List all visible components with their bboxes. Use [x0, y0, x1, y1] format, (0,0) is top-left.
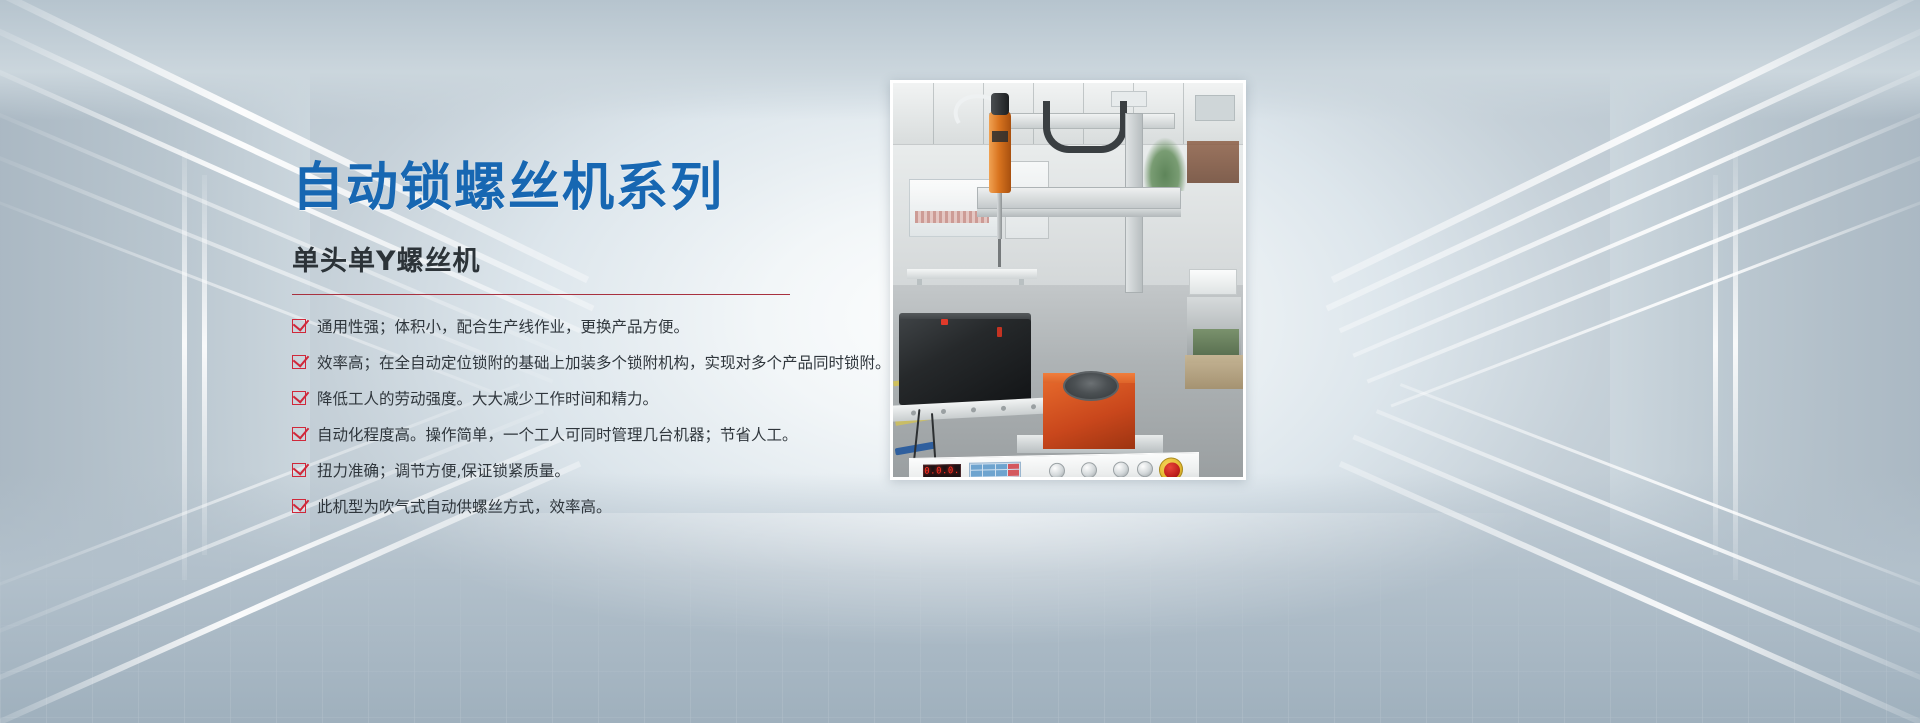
check-square-icon [292, 319, 306, 333]
banner-content: 自动锁螺丝机系列 单头单Y螺丝机 通用性强；体积小，配合生产线作业，更换产品方便… [0, 0, 1920, 723]
wall-board [1195, 95, 1235, 121]
background-papers [1189, 269, 1237, 295]
control-keypad [969, 462, 1021, 477]
feature-list: 通用性强；体积小，配合生产线作业，更换产品方便。 效率高；在全自动定位锁附的基础… [292, 317, 892, 518]
page-subtitle: 单头单Y螺丝机 [292, 239, 892, 278]
panel-button-reset [1049, 463, 1065, 477]
machine-rail-lower [977, 209, 1181, 217]
banner-copy-block: 自动锁螺丝机系列 单头单Y螺丝机 通用性强；体积小，配合生产线作业，更换产品方便… [292, 160, 892, 533]
panel-button-test [1113, 461, 1129, 477]
background-item [1193, 329, 1239, 355]
module-indicator [997, 327, 1002, 337]
screwdriver-shaft [997, 193, 1002, 239]
screwdriver-label [992, 131, 1008, 142]
panel-button-auto [1137, 461, 1153, 477]
background-crate [1187, 141, 1239, 183]
feature-text: 效率高；在全自动定位锁附的基础上加装多个锁附机构，实现对多个产品同时锁附。 [317, 353, 891, 374]
background-item [1185, 355, 1243, 389]
panel-button-single [1081, 462, 1097, 477]
product-photo: 0.0.0. 复归 单打 测试 自动A [890, 80, 1246, 480]
background-table [907, 269, 1037, 279]
emergency-stop-button [1159, 457, 1183, 477]
digital-display: 0.0.0. [923, 464, 961, 477]
title-divider [292, 294, 790, 295]
module-indicator [941, 319, 948, 325]
check-square-icon [292, 463, 306, 477]
screwdriver-cap [991, 93, 1009, 115]
check-square-icon [292, 499, 306, 513]
electric-screwdriver [989, 111, 1011, 193]
background-plant [1143, 137, 1187, 191]
list-item: 通用性强；体积小，配合生产线作业，更换产品方便。 [292, 317, 892, 338]
list-item: 降低工人的劳动强度。大大减少工作时间和精力。 [292, 389, 892, 410]
feature-text: 通用性强；体积小，配合生产线作业，更换产品方便。 [317, 317, 689, 338]
list-item: 效率高；在全自动定位锁附的基础上加装多个锁附机构，实现对多个产品同时锁附。 [292, 353, 892, 374]
feature-text: 此机型为吹气式自动供螺丝方式，效率高。 [317, 497, 612, 518]
feature-text: 自动化程度高。操作简单，一个工人可同时管理几台机器；节省人工。 [317, 425, 798, 446]
list-item: 扭力准确；调节方便,保证锁紧质量。 [292, 461, 892, 482]
page-title: 自动锁螺丝机系列 [292, 160, 892, 217]
workpiece-disc [1063, 371, 1119, 401]
y-axis-module [899, 319, 1031, 405]
product-photo-image: 0.0.0. 复归 单打 测试 自动A [893, 83, 1243, 477]
list-item: 自动化程度高。操作简单，一个工人可同时管理几台机器；节省人工。 [292, 425, 892, 446]
check-square-icon [292, 427, 306, 441]
cable-carrier [1043, 101, 1127, 153]
list-item: 此机型为吹气式自动供螺丝方式，效率高。 [292, 497, 892, 518]
feature-text: 降低工人的劳动强度。大大减少工作时间和精力。 [317, 389, 658, 410]
screwdriver-bit [998, 239, 1001, 267]
check-square-icon [292, 355, 306, 369]
check-square-icon [292, 391, 306, 405]
feature-text: 扭力准确；调节方便,保证锁紧质量。 [317, 461, 570, 482]
